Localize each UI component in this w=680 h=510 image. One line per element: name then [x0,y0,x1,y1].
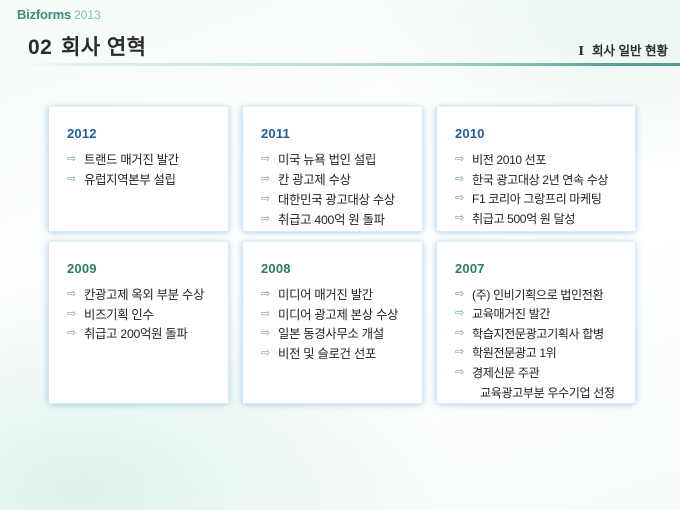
list-item-text: 비즈기획 인수 [84,308,154,322]
card-year-label: 2008 [261,262,422,275]
card-year-label: 2012 [67,127,228,140]
page-title-number: 02 [28,36,52,59]
arrow-right-icon: ⇨ [455,364,464,382]
list-item: ⇨미디어 광고제 본상 수상 [261,306,414,326]
arrow-right-icon: ⇨ [261,325,270,343]
list-item-text: 비전 2010 선포 [472,153,546,167]
arrow-right-icon: ⇨ [455,286,464,304]
list-item: ⇨미디어 매거진 발간 [261,286,414,306]
list-item: ⇨교육매거진 발간 [455,305,627,325]
list-item: ⇨칸광고제 옥외 부분 수상 [67,286,220,306]
page-title-text: 회사 연혁 [61,36,146,59]
card-item-list: ⇨칸광고제 옥외 부분 수상 ⇨비즈기획 인수 ⇨취급고 200억원 돌파 [49,286,228,346]
chapter-label: Ⅰ회사 일반 현황 [578,40,668,59]
list-item: ⇨학원전문광고 1위 [455,344,627,364]
timeline-card-2009: 2009 ⇨칸광고제 옥외 부분 수상 ⇨비즈기획 인수 ⇨취급고 200억원 … [48,241,229,404]
timeline-card-2007: 2007 ⇨(주) 인비기획으로 법인전환 ⇨교육매거진 발간 ⇨학습지전문광고… [436,241,636,404]
list-item: ⇨한국 광고대상 2년 연속 수상 [455,171,627,191]
arrow-right-icon: ⇨ [261,306,270,324]
brand-year: 2013 [74,8,101,22]
chapter-roman-numeral: Ⅰ [578,44,584,58]
arrow-right-icon: ⇨ [261,171,270,189]
timeline-card-2012: 2012 ⇨트랜드 매거진 발간 ⇨유럽지역본부 설립 [48,106,229,232]
list-item-text: 트랜드 매거진 발간 [84,153,179,167]
arrow-right-icon: ⇨ [67,151,76,169]
brand-name: Bizforms [17,7,71,22]
arrow-right-icon: ⇨ [455,344,464,362]
card-item-list: ⇨트랜드 매거진 발간 ⇨유럽지역본부 설립 [49,151,228,191]
arrow-right-icon: ⇨ [67,286,76,304]
list-item-text: 학습지전문광고기획사 합병 [472,327,604,341]
arrow-right-icon: ⇨ [67,171,76,189]
arrow-right-icon: ⇨ [455,325,464,343]
list-item: ⇨(주) 인비기획으로 법인전환 [455,286,627,306]
arrow-right-icon: ⇨ [67,306,76,324]
card-year-label: 2007 [455,262,635,275]
arrow-right-icon: ⇨ [261,211,270,229]
list-item: ⇨비즈기획 인수 [67,306,220,326]
list-item-text: 취급고 400억 원 돌파 [278,213,385,227]
list-item: ⇨학습지전문광고기획사 합병 [455,325,627,345]
timeline-card-2011: 2011 ⇨미국 뉴욕 법인 설립 ⇨칸 광고제 수상 ⇨대한민국 광고대상 수… [242,106,423,232]
card-item-list: ⇨미디어 매거진 발간 ⇨미디어 광고제 본상 수상 ⇨일본 동경사무소 개설 … [243,286,422,366]
timeline-card-2008: 2008 ⇨미디어 매거진 발간 ⇨미디어 광고제 본상 수상 ⇨일본 동경사무… [242,241,423,404]
list-item: ⇨칸 광고제 수상 [261,171,414,191]
card-year-label: 2010 [455,127,635,140]
list-item: ⇨취급고 500억 원 달성 [455,210,627,230]
card-item-list: ⇨비전 2010 선포 ⇨한국 광고대상 2년 연속 수상 ⇨F1 코리아 그랑… [437,151,635,229]
arrow-right-icon: ⇨ [455,210,464,228]
list-item: ⇨미국 뉴욕 법인 설립 [261,151,414,171]
list-item: ⇨취급고 400억 원 돌파 [261,211,414,231]
card-item-list: ⇨미국 뉴욕 법인 설립 ⇨칸 광고제 수상 ⇨대한민국 광고대상 수상 ⇨취급… [243,151,422,231]
list-item-continuation: 교육광고부분 우수기업 선정 [455,384,627,404]
list-item-text: F1 코리아 그랑프리 마케팅 [472,192,601,206]
slide-canvas: Bizforms2013 02회사 연혁 Ⅰ회사 일반 현황 2012 ⇨트랜드… [0,0,680,510]
list-item-text: 일본 동경사무소 개설 [278,327,384,341]
list-item-text: 교육매거진 발간 [472,307,550,321]
timeline-card-2010: 2010 ⇨비전 2010 선포 ⇨한국 광고대상 2년 연속 수상 ⇨F1 코… [436,106,636,232]
arrow-right-icon: ⇨ [455,151,464,169]
list-item-text: 칸 광고제 수상 [278,173,351,187]
timeline-card-grid: 2012 ⇨트랜드 매거진 발간 ⇨유럽지역본부 설립 2011 ⇨미국 뉴욕 … [48,106,634,404]
list-item-text: 취급고 500억 원 달성 [472,212,575,226]
chapter-title: 회사 일반 현황 [592,44,668,58]
card-year-label: 2009 [67,262,228,275]
list-item-text: 미디어 매거진 발간 [278,288,373,302]
header-divider [18,63,680,66]
arrow-right-icon: ⇨ [455,190,464,208]
page-title: 02회사 연혁 [28,31,146,61]
list-item: ⇨대한민국 광고대상 수상 [261,191,414,211]
list-item-text: 미디어 광고제 본상 수상 [278,308,398,322]
list-item-text: 학원전문광고 1위 [472,346,556,360]
list-item-text: 경제신문 주관 [472,366,539,380]
arrow-right-icon: ⇨ [455,171,464,189]
list-item-text: 칸광고제 옥외 부분 수상 [84,288,204,302]
list-item-text: 교육광고부분 우수기업 선정 [480,386,615,400]
list-item: ⇨비전 및 슬로건 선포 [261,345,414,365]
list-item: ⇨유럽지역본부 설립 [67,171,220,191]
list-item-text: (주) 인비기획으로 법인전환 [472,288,603,302]
card-year-label: 2011 [261,127,422,140]
arrow-right-icon: ⇨ [261,286,270,304]
arrow-right-icon: ⇨ [261,151,270,169]
list-item: ⇨경제신문 주관 [455,364,627,384]
list-item-text: 대한민국 광고대상 수상 [278,193,395,207]
brand-logo: Bizforms2013 [17,7,101,23]
arrow-right-icon: ⇨ [455,305,464,323]
list-item-text: 유럽지역본부 설립 [84,173,176,187]
list-item: ⇨F1 코리아 그랑프리 마케팅 [455,190,627,210]
list-item-text: 미국 뉴욕 법인 설립 [278,153,376,167]
list-item: ⇨비전 2010 선포 [455,151,627,171]
list-item-text: 취급고 200억원 돌파 [84,327,188,341]
arrow-right-icon: ⇨ [261,191,270,209]
list-item: ⇨트랜드 매거진 발간 [67,151,220,171]
list-item-text: 비전 및 슬로건 선포 [278,347,376,361]
arrow-right-icon: ⇨ [261,345,270,363]
card-item-list: ⇨(주) 인비기획으로 법인전환 ⇨교육매거진 발간 ⇨학습지전문광고기획사 합… [437,286,635,403]
list-item-text: 한국 광고대상 2년 연속 수상 [472,173,608,187]
arrow-right-icon: ⇨ [67,325,76,343]
list-item: ⇨취급고 200억원 돌파 [67,325,220,345]
list-item: ⇨일본 동경사무소 개설 [261,325,414,345]
